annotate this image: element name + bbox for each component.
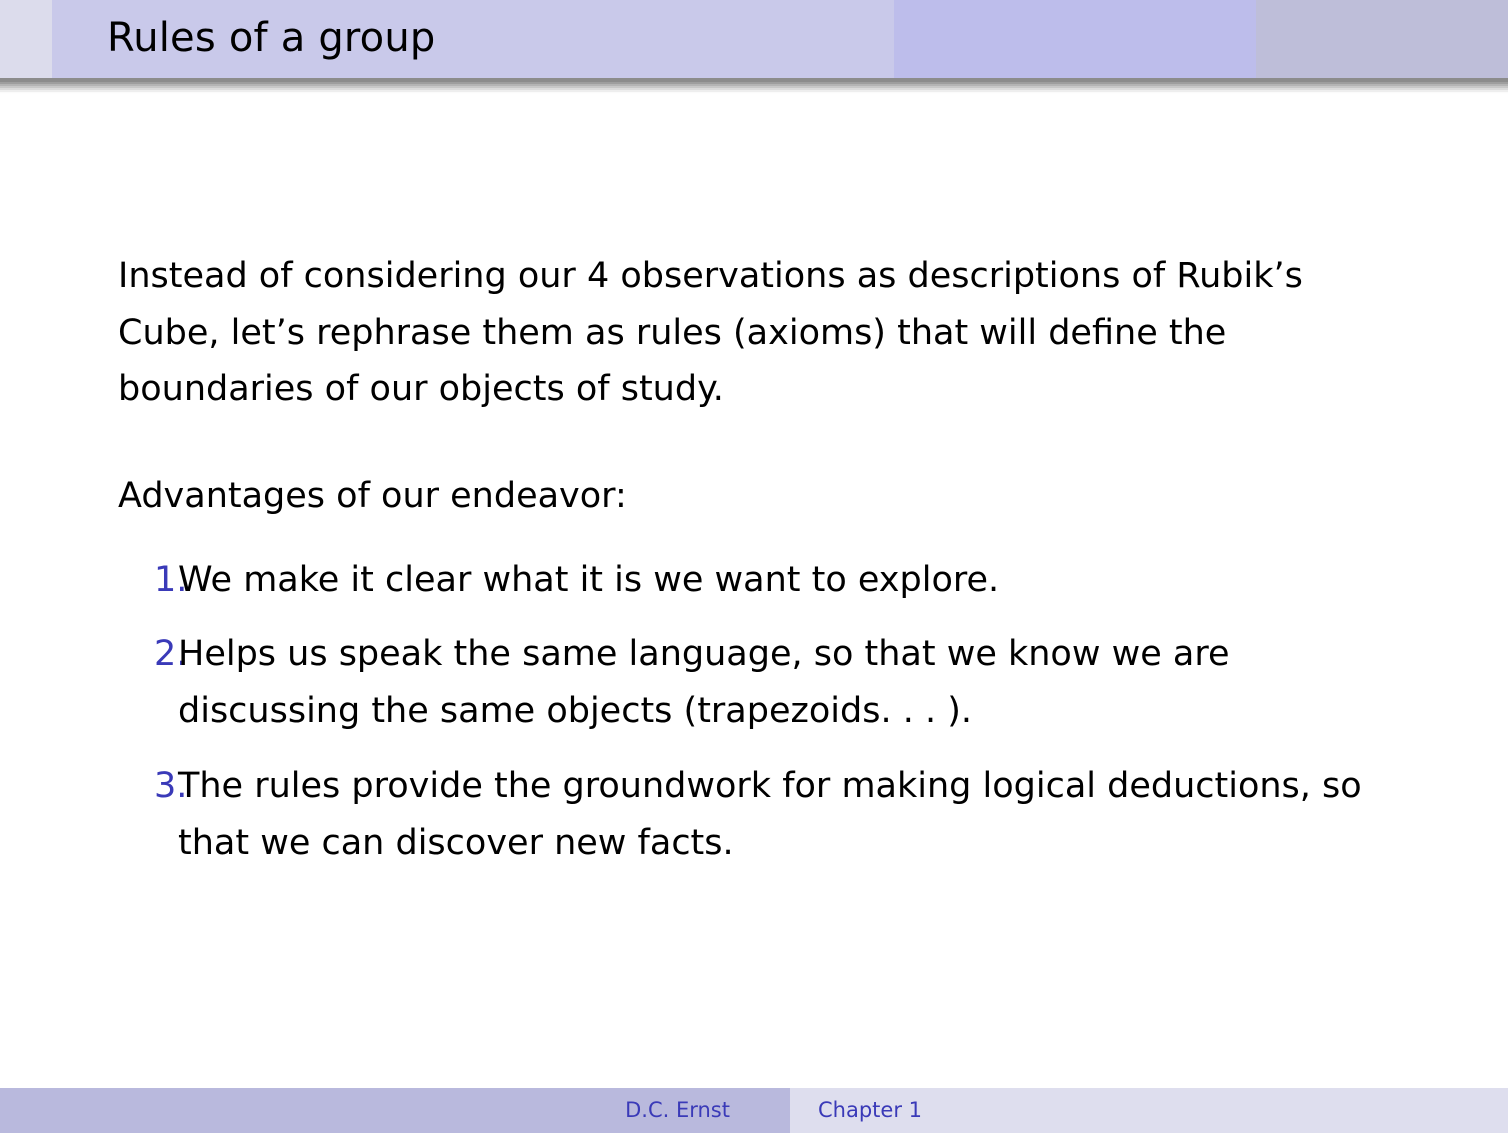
- footer-chapter-section: Chapter 1: [790, 1088, 1508, 1133]
- list-item: 1. We make it clear what it is we want t…: [118, 552, 1368, 609]
- header-shadow-divider: [0, 78, 1508, 94]
- slide-title: Rules of a group: [107, 18, 436, 58]
- intro-paragraph: Instead of considering our 4 observation…: [118, 248, 1403, 418]
- header-band-far-left: [0, 0, 52, 78]
- footer-author-section: D.C. Ernst: [0, 1088, 790, 1133]
- header-band-right: [1256, 0, 1508, 78]
- advantages-lead-in: Advantages of our endeavor:: [118, 418, 1403, 525]
- slide-content: Instead of considering our 4 observation…: [118, 248, 1408, 871]
- list-item-marker: 3.: [118, 758, 178, 815]
- header-band-mid: [894, 0, 1256, 78]
- list-item-marker: 2.: [118, 626, 178, 683]
- slide-header: Rules of a group: [0, 0, 1508, 78]
- footer-chapter: Chapter 1: [818, 1100, 922, 1121]
- list-item-text: We make it clear what it is we want to e…: [178, 552, 1368, 609]
- list-item-text: Helps us speak the same language, so tha…: [178, 626, 1368, 739]
- list-item: 3. The rules provide the groundwork for …: [118, 758, 1368, 871]
- list-item-text: The rules provide the groundwork for mak…: [178, 758, 1368, 871]
- slide-footer: D.C. Ernst Chapter 1: [0, 1088, 1508, 1133]
- footer-author: D.C. Ernst: [625, 1100, 730, 1121]
- header-band-title: Rules of a group: [52, 0, 894, 78]
- list-item-marker: 1.: [118, 552, 178, 609]
- advantages-list: 1. We make it clear what it is we want t…: [118, 525, 1408, 871]
- list-item: 2. Helps us speak the same language, so …: [118, 626, 1368, 739]
